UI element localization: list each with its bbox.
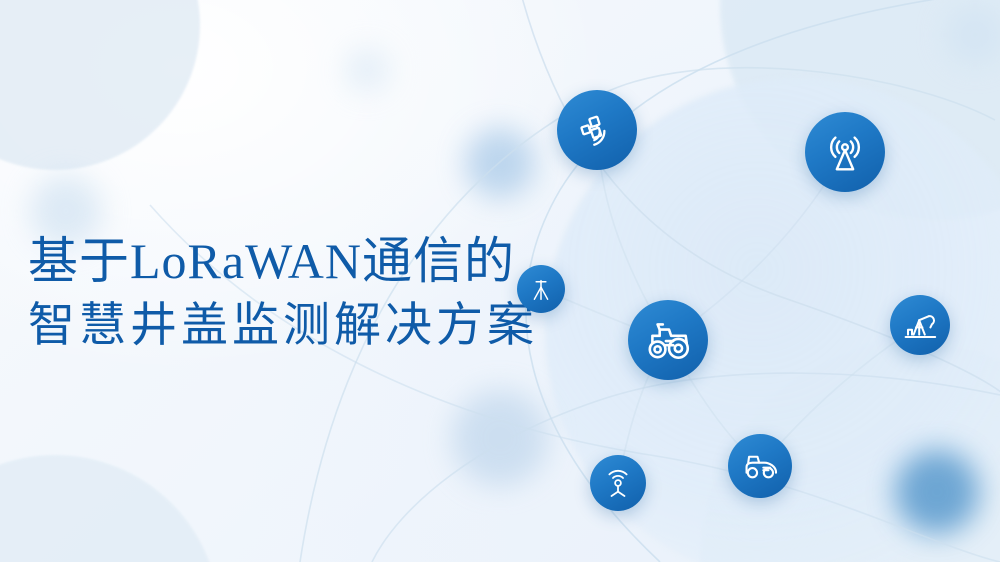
node-rover[interactable] (728, 434, 792, 498)
node-antenna[interactable] (805, 112, 885, 192)
radio-tower-icon (821, 128, 869, 176)
presentation-cover-slide: 基于LoRaWAN通信的 智慧井盖监测解决方案 (0, 0, 1000, 562)
top-left-blob (0, 0, 200, 170)
node-tripod[interactable] (517, 265, 565, 313)
node-tractor[interactable] (628, 300, 708, 380)
title-line-2: 智慧井盖监测解决方案 (28, 294, 588, 356)
node-oil-pump[interactable] (890, 295, 950, 355)
dot-top-right (945, 5, 1000, 65)
node-satellite[interactable] (557, 90, 637, 170)
dot-top-center (345, 48, 389, 92)
bottom-left-blob (0, 455, 220, 562)
survey-tripod-icon (526, 274, 556, 304)
dot-lower-right (895, 450, 979, 534)
oil-pumpjack-icon (900, 305, 940, 345)
rover-vehicle-icon (739, 445, 781, 487)
slide-title: 基于LoRaWAN通信的 智慧井盖监测解决方案 (28, 228, 588, 356)
satellite-signal-icon (574, 107, 620, 153)
wireless-sensor-icon (600, 465, 636, 501)
node-sensor-beacon[interactable] (590, 455, 646, 511)
dot-mid-left (452, 390, 548, 486)
tractor-icon (642, 314, 694, 366)
title-line-1: 基于LoRaWAN通信的 (28, 228, 588, 294)
dot-upper-center (465, 128, 535, 198)
